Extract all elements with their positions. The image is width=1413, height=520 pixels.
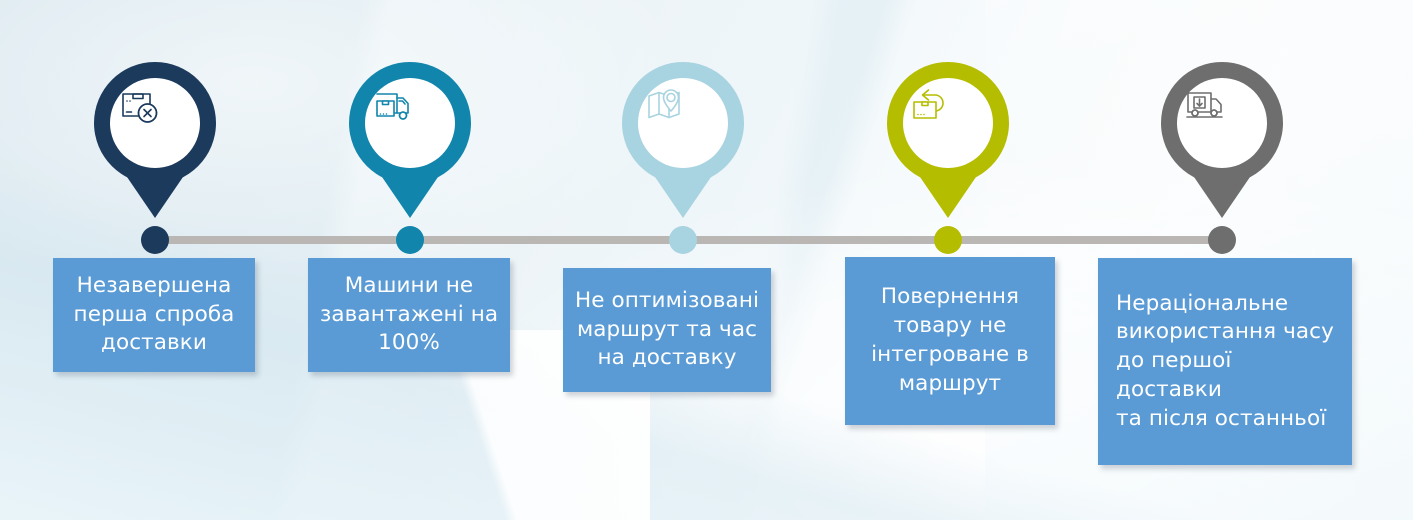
pin-marker-2[interactable] xyxy=(347,60,473,220)
infographic-canvas: Незавершена перша спроба доставкиМашини … xyxy=(0,0,1413,520)
text-card-1[interactable]: Незавершена перша спроба доставки xyxy=(53,258,255,372)
pin-shape-2 xyxy=(347,60,473,220)
pin-shape-5 xyxy=(1159,60,1285,220)
text-card-2[interactable]: Машини не завантажені на 100% xyxy=(308,258,510,372)
text-card-4[interactable]: Повернення товару не інтегроване в маршр… xyxy=(845,257,1055,425)
pin-marker-3[interactable] xyxy=(620,60,746,220)
pin-shape-4 xyxy=(885,60,1011,220)
text-card-label-5: Нераціональне використання часу до першо… xyxy=(1098,290,1352,434)
timeline-dot-5 xyxy=(1208,226,1236,254)
timeline-dot-3 xyxy=(669,226,697,254)
pin-marker-4[interactable] xyxy=(885,60,1011,220)
timeline-dot-4 xyxy=(934,226,962,254)
timeline-dot-2 xyxy=(396,226,424,254)
pin-shape-1 xyxy=(92,60,218,220)
pin-marker-1[interactable] xyxy=(92,60,218,220)
text-card-5[interactable]: Нераціональне використання часу до першо… xyxy=(1098,258,1352,465)
text-card-label-2: Машини не завантажені на 100% xyxy=(308,272,510,358)
text-card-label-1: Незавершена перша спроба доставки xyxy=(53,272,255,358)
timeline-dot-1 xyxy=(141,226,169,254)
text-card-label-3: Не оптимізовані маршрут та час на достав… xyxy=(563,287,771,373)
text-card-label-4: Повернення товару не інтегроване в маршр… xyxy=(845,283,1055,398)
text-card-3[interactable]: Не оптимізовані маршрут та час на достав… xyxy=(563,268,771,392)
pin-marker-5[interactable] xyxy=(1159,60,1285,220)
pin-shape-3 xyxy=(620,60,746,220)
